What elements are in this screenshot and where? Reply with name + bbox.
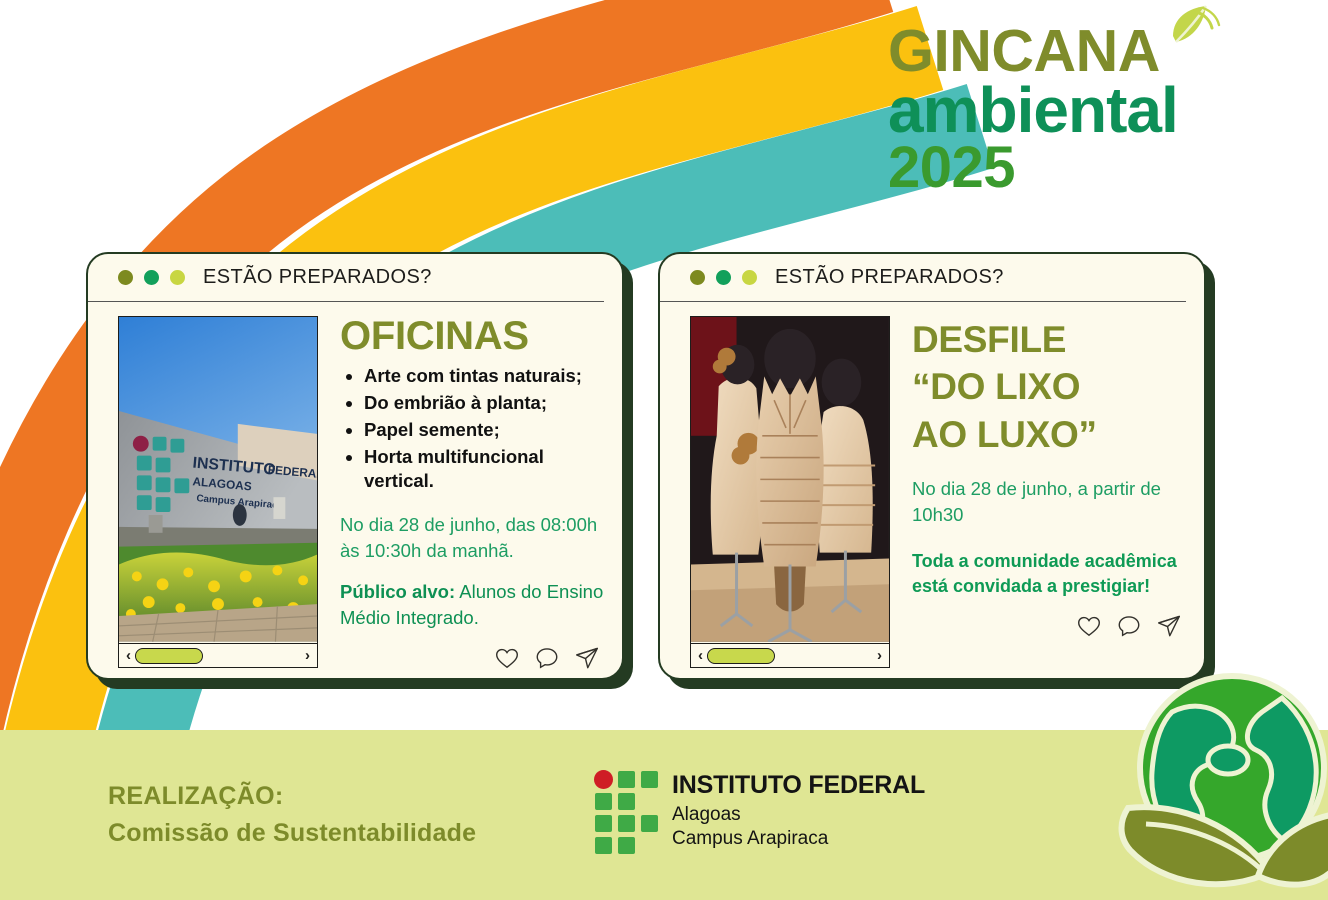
card-oficinas[interactable]: ESTÃO PREPARADOS? xyxy=(86,252,624,680)
photo-campus: INSTITUTO FEDERAL ALAGOAS Campus Arapira… xyxy=(118,316,318,644)
schedule-text: No dia 28 de junho, a partir de 10h30 xyxy=(912,476,1188,527)
list-item: Do embrião à planta; xyxy=(364,391,606,416)
carousel-thumb[interactable] xyxy=(135,648,203,664)
ifal-wordmark: INSTITUTO FEDERAL Alagoas Campus Arapira… xyxy=(672,773,925,851)
photo-paper-dresses xyxy=(690,316,890,644)
heart-icon[interactable] xyxy=(1076,613,1102,639)
poster-title: GINCANA ambiental 2025 xyxy=(888,26,1178,193)
ifal-campus: Campus Arapiraca xyxy=(672,827,925,851)
dot-lime-icon xyxy=(170,270,185,285)
send-icon[interactable] xyxy=(1156,613,1182,639)
photo-carousel-scrollbar[interactable]: ‹ › xyxy=(690,644,890,668)
title-line-year: 2025 xyxy=(888,142,1178,193)
dot-olive-icon xyxy=(118,270,133,285)
title-line-ambiental: ambiental xyxy=(888,82,1178,138)
realization-block: REALIZAÇÃO: Comissão de Sustentabilidade xyxy=(108,782,476,848)
comment-icon[interactable] xyxy=(1116,613,1142,639)
title-line-gincana: GINCANA xyxy=(888,26,1178,78)
window-dots xyxy=(690,270,757,285)
carousel-thumb[interactable] xyxy=(707,648,775,664)
card-body: ‹ › DESFILE “DO LIXO AO LUXO” No dia 28 … xyxy=(660,302,1204,668)
photo-column: INSTITUTO FEDERAL ALAGOAS Campus Arapira… xyxy=(118,316,324,671)
heading-line-2: “DO LIXO xyxy=(912,363,1188,410)
oficinas-list: Arte com tintas naturais; Do embrião à p… xyxy=(340,364,606,495)
list-item: Papel semente; xyxy=(364,418,606,443)
list-item: Horta multifuncional vertical. xyxy=(364,445,606,495)
realization-label: REALIZAÇÃO: xyxy=(108,782,476,811)
invite-text: Toda a comunidade acadêmica está convida… xyxy=(912,549,1188,599)
comment-icon[interactable] xyxy=(534,645,560,671)
send-icon[interactable] xyxy=(574,645,600,671)
audience-text: Público alvo: Alunos do Ensino Médio Int… xyxy=(340,579,606,630)
ifal-logo: INSTITUTO FEDERAL Alagoas Campus Arapira… xyxy=(594,770,925,854)
card-heading: OFICINAS xyxy=(340,316,606,358)
ifal-state: Alagoas xyxy=(672,803,925,827)
card-desfile[interactable]: ESTÃO PREPARADOS? xyxy=(658,252,1206,680)
dot-green-icon xyxy=(716,270,731,285)
carousel-prev-icon[interactable]: ‹ xyxy=(698,648,703,663)
dot-lime-icon xyxy=(742,270,757,285)
card-heading: DESFILE “DO LIXO AO LUXO” xyxy=(912,316,1188,458)
card-body: INSTITUTO FEDERAL ALAGOAS Campus Arapira… xyxy=(88,302,622,671)
schedule-text: No dia 28 de junho, das 08:00h às 10:30h… xyxy=(340,512,606,563)
post-actions xyxy=(340,645,606,671)
leaf-icon xyxy=(1166,4,1228,54)
list-item: Arte com tintas naturais; xyxy=(364,364,606,389)
photo-column: ‹ › xyxy=(690,316,896,668)
audience-label: Público alvo: xyxy=(340,581,455,602)
heading-line-3: AO LUXO” xyxy=(912,411,1188,458)
carousel-next-icon[interactable]: › xyxy=(877,648,882,663)
globe-leaf-icon xyxy=(1110,672,1328,900)
heading-line-1: DESFILE xyxy=(912,316,1188,363)
ifal-name: INSTITUTO FEDERAL xyxy=(672,773,925,798)
text-column: DESFILE “DO LIXO AO LUXO” No dia 28 de j… xyxy=(896,316,1204,668)
window-dots xyxy=(118,270,185,285)
card-title-bar: ESTÃO PREPARADOS? xyxy=(88,254,604,302)
carousel-prev-icon[interactable]: ‹ xyxy=(126,648,131,663)
dot-olive-icon xyxy=(690,270,705,285)
card-title-bar: ESTÃO PREPARADOS? xyxy=(660,254,1186,302)
dot-green-icon xyxy=(144,270,159,285)
post-actions xyxy=(912,613,1188,639)
ifal-grid-icon xyxy=(594,770,660,854)
realization-value: Comissão de Sustentabilidade xyxy=(108,819,476,848)
heart-icon[interactable] xyxy=(494,645,520,671)
card-window-title: ESTÃO PREPARADOS? xyxy=(775,266,1004,289)
photo-carousel-scrollbar[interactable]: ‹ › xyxy=(118,644,318,668)
carousel-next-icon[interactable]: › xyxy=(305,648,310,663)
card-window-title: ESTÃO PREPARADOS? xyxy=(203,266,432,289)
poster-canvas: GINCANA ambiental 2025 ESTÃO PREPARADOS? xyxy=(0,0,1328,900)
text-column: OFICINAS Arte com tintas naturais; Do em… xyxy=(324,316,622,671)
